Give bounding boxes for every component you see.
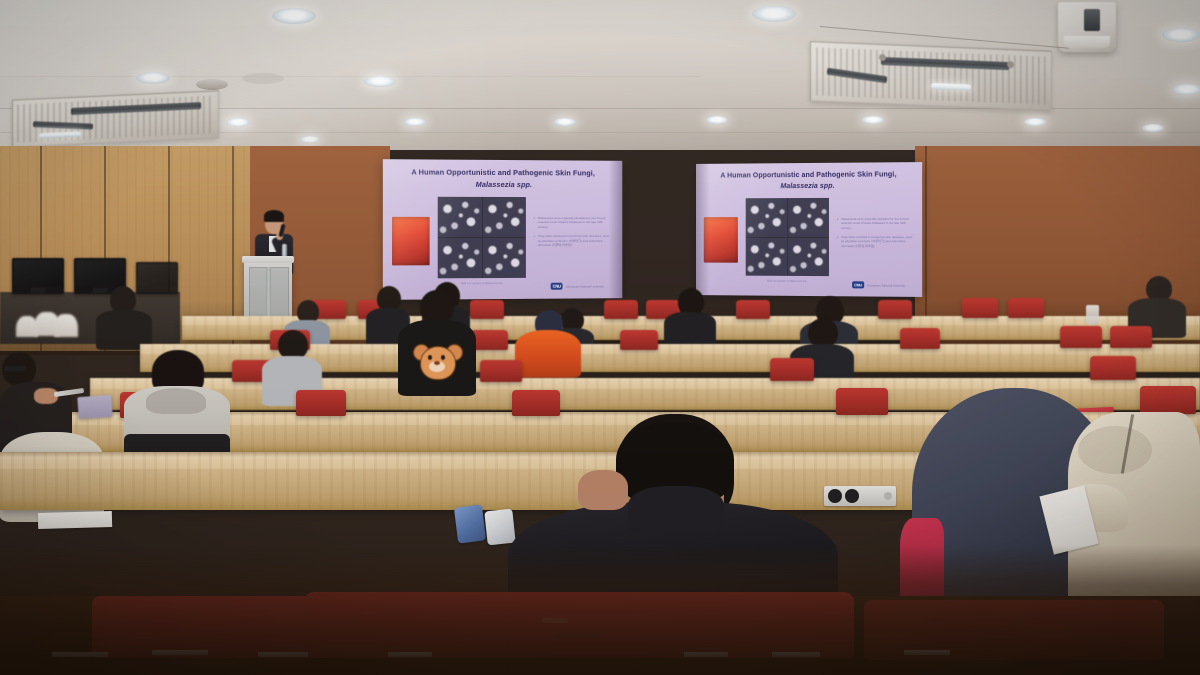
downlight [136, 72, 170, 84]
chair [604, 300, 638, 319]
jerry-cartoon-graphic [414, 342, 460, 380]
jerry-eye-left [428, 355, 432, 360]
av-monitor-1 [12, 258, 64, 294]
downlight [1142, 124, 1164, 132]
podium-top [242, 256, 294, 263]
hood [146, 388, 206, 414]
person-orange-puffer [515, 310, 581, 380]
orange-puffer-jacket [515, 330, 581, 378]
black-hoodie [398, 320, 476, 396]
chair [1008, 298, 1044, 318]
av-chair-2 [54, 314, 78, 337]
person-gray-hoodie [124, 350, 230, 456]
chair [512, 390, 560, 416]
presenter-hair [264, 210, 284, 222]
chair [620, 330, 658, 350]
lecture-hall-photo: A Human Opportunistic and Pathogenic Ski… [0, 0, 1200, 675]
chair [962, 298, 998, 318]
person-jerry-hoodie [398, 290, 476, 396]
downlight [226, 118, 250, 127]
downlight [300, 136, 320, 143]
downlight [554, 118, 576, 126]
ceiling-seam-3 [0, 76, 700, 77]
downlight [862, 116, 884, 124]
head [420, 290, 454, 324]
ceiling-speaker [1058, 2, 1116, 52]
downlight [706, 116, 728, 124]
turtleneck-collar [628, 486, 724, 534]
ac-cassette-right [810, 41, 1052, 111]
person-av-operator [96, 286, 152, 346]
item-pencase-blue [454, 504, 486, 543]
person-row-a-5 [664, 288, 716, 348]
downlight [364, 76, 396, 87]
screen-left: A Human Opportunistic and Pathogenic Ski… [383, 159, 622, 300]
jerry-nose [434, 361, 440, 365]
ceiling-speaker-small [196, 79, 228, 90]
chair [878, 300, 912, 319]
item-tablet [77, 395, 112, 419]
foreground-shadow [0, 545, 1200, 675]
chair [296, 390, 346, 416]
downlight [1172, 84, 1200, 95]
chair [1110, 326, 1152, 348]
chair [480, 360, 522, 382]
ac-cassette-left [12, 90, 219, 147]
av-chair-3 [16, 316, 38, 337]
chair [900, 328, 940, 349]
downlight [404, 118, 426, 126]
chair [1090, 356, 1136, 380]
downlight [752, 6, 796, 22]
chair [770, 358, 814, 381]
chair [836, 388, 888, 415]
ceiling-vent-cap [242, 73, 284, 84]
chair [1140, 386, 1196, 414]
downlight [272, 8, 316, 24]
glasses [4, 366, 26, 371]
downlight [1162, 28, 1200, 42]
hood-fold [1078, 426, 1152, 474]
ear-or-hand [578, 470, 628, 510]
item-cup [1086, 305, 1099, 325]
chair [736, 300, 770, 319]
chair [1060, 326, 1102, 348]
downlight [1024, 118, 1046, 126]
screen-right: A Human Opportunistic and Pathogenic Ski… [696, 162, 922, 297]
item-paper-sheet [38, 511, 112, 529]
jerry-eye-right [441, 355, 445, 360]
